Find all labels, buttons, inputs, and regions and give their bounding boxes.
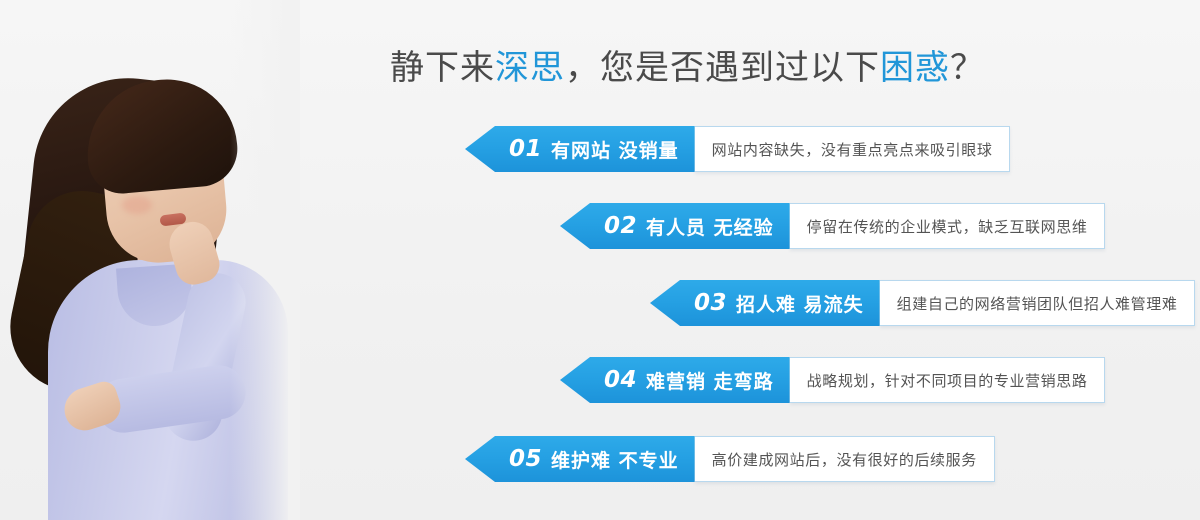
pain-point-number: 01	[509, 136, 542, 162]
list-item[interactable]: 01 有网站 没销量 网站内容缺失，没有重点亮点来吸引眼球	[465, 126, 1010, 172]
pain-point-tag[interactable]: 05 维护难 不专业	[465, 436, 695, 482]
pain-point-description: 组建自己的网络营销团队但招人难管理难	[880, 280, 1196, 326]
pain-point-description: 高价建成网站后，没有很好的后续服务	[695, 436, 995, 482]
pain-point-title: 招人难 易流失	[736, 290, 864, 317]
pain-point-description: 战略规划，针对不同项目的专业营销思路	[790, 357, 1106, 403]
pain-point-title: 有网站 没销量	[551, 136, 679, 163]
pain-point-description: 网站内容缺失，没有重点亮点来吸引眼球	[695, 126, 1011, 172]
pain-point-tag[interactable]: 02 有人员 无经验	[560, 203, 790, 249]
pain-point-description: 停留在传统的企业模式，缺乏互联网思维	[790, 203, 1106, 249]
list-item[interactable]: 05 维护难 不专业 高价建成网站后，没有很好的后续服务	[465, 436, 995, 482]
pain-point-number: 05	[509, 446, 542, 472]
pain-point-title: 难营销 走弯路	[646, 367, 774, 394]
pain-point-tag[interactable]: 01 有网站 没销量	[465, 126, 695, 172]
pain-point-list: 01 有网站 没销量 网站内容缺失，没有重点亮点来吸引眼球 02 有人员 无经验…	[0, 0, 1200, 520]
pain-point-number: 03	[694, 290, 727, 316]
pain-point-tag[interactable]: 03 招人难 易流失	[650, 280, 880, 326]
pain-point-number: 04	[604, 367, 637, 393]
list-item[interactable]: 02 有人员 无经验 停留在传统的企业模式，缺乏互联网思维	[560, 203, 1105, 249]
list-item[interactable]: 03 招人难 易流失 组建自己的网络营销团队但招人难管理难	[650, 280, 1195, 326]
pain-point-number: 02	[604, 213, 637, 239]
list-item[interactable]: 04 难营销 走弯路 战略规划，针对不同项目的专业营销思路	[560, 357, 1105, 403]
pain-point-title: 维护难 不专业	[551, 446, 679, 473]
pain-point-tag[interactable]: 04 难营销 走弯路	[560, 357, 790, 403]
promo-banner: 静下来深思，您是否遇到过以下困惑？ 01 有网站 没销量 网站内容缺失，没有重点…	[0, 0, 1200, 520]
pain-point-title: 有人员 无经验	[646, 213, 774, 240]
